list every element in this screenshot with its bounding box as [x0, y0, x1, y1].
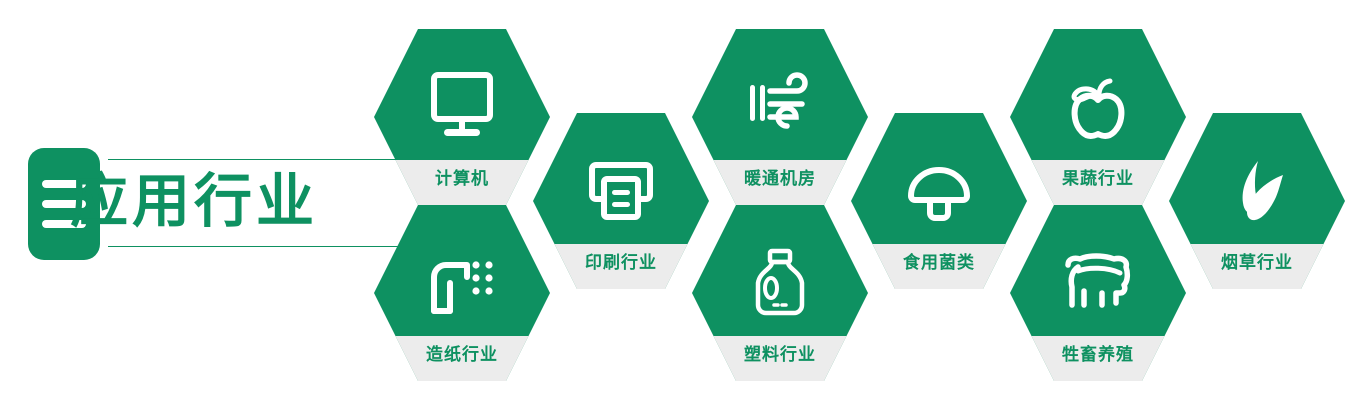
hexagon-shape-printing [533, 113, 709, 289]
hex-tile-edible-fungi[interactable]: 食用菌类 [851, 113, 1027, 289]
hex-tile-tobacco[interactable]: 烟草行业 [1169, 113, 1345, 289]
hexagon-shape-fruit-vegetable [1010, 29, 1186, 205]
hexagon-shape-tobacco [1169, 113, 1345, 289]
hexagon-shape-papermaking [374, 205, 550, 381]
hex-tile-fruit-vegetable[interactable]: 果蔬行业 [1010, 29, 1186, 205]
hex-tile-papermaking[interactable]: 造纸行业 [374, 205, 550, 381]
hex-tile-hvac[interactable]: 暖通机房 [692, 29, 868, 205]
hexagon-shape-hvac [692, 29, 868, 205]
hexagon-shape-computer [374, 29, 550, 205]
hex-tile-printing[interactable]: 印刷行业 [533, 113, 709, 289]
hex-tile-plastics[interactable]: 塑料行业 [692, 205, 868, 381]
hexagon-shape-plastics [692, 205, 868, 381]
industry-hex-grid: 计算机 印刷行业 [0, 0, 1370, 416]
hex-tile-computer[interactable]: 计算机 [374, 29, 550, 205]
hexagon-shape-edible-fungi [851, 113, 1027, 289]
hex-tile-livestock[interactable]: 牲畜养殖 [1010, 205, 1186, 381]
hexagon-shape-livestock [1010, 205, 1186, 381]
